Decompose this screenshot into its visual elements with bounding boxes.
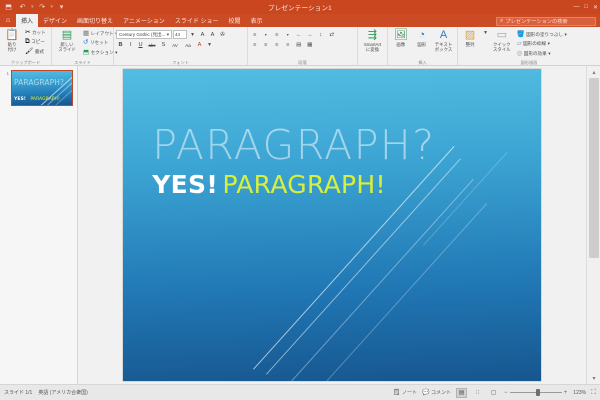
thumbnail-paragraph-text: PARAGRAPH! bbox=[30, 97, 59, 102]
title-bar: ⬒ ↶ ▾ ↷ ▾ ▾ プレゼンテーション1 — □ ✕ bbox=[0, 0, 600, 14]
comment-icon: 💬 bbox=[422, 389, 429, 396]
search-icon: ⌕ bbox=[500, 18, 503, 25]
scroll-down-icon[interactable]: ▾ bbox=[587, 372, 600, 384]
thumbnail-canvas: PARAGRAPH? YES! PARAGRAPH! bbox=[12, 71, 72, 105]
zoom-track[interactable] bbox=[510, 392, 562, 393]
ribbon-group-paragraph: ≡ ▾ ≡ ▾ ← → ↕ ⇄ ≡ ≡ ≡ ≡ ▤ ▦ 段落 bbox=[248, 27, 358, 65]
font-name-value: Century Gothic (見出... bbox=[119, 32, 165, 38]
brush-icon: 🖌 bbox=[25, 48, 33, 56]
search-placeholder: プレゼンテーションの検索 bbox=[505, 18, 567, 25]
notes-button[interactable]: 🗒 ノート bbox=[393, 389, 417, 396]
slide-subheading[interactable]: YES! PARAGRAPH! bbox=[152, 172, 435, 197]
fill-bucket-icon: 🪣 bbox=[517, 31, 525, 39]
clipboard-group-label: クリップボード bbox=[2, 60, 49, 65]
tab-insert[interactable]: 挿入 bbox=[16, 14, 38, 27]
smartart-group-label bbox=[360, 60, 385, 65]
align-text-button[interactable]: ▦ bbox=[305, 41, 315, 50]
tab-view[interactable]: 表示 bbox=[246, 14, 268, 27]
new-slide-label: 新しい スライド bbox=[58, 42, 76, 52]
normal-view-button[interactable]: ▤ bbox=[456, 388, 467, 398]
align-center-button[interactable]: ≡ bbox=[261, 41, 271, 50]
slide-sorter-view-button[interactable]: ∷ bbox=[472, 388, 483, 398]
thumbnail-list-item[interactable]: 1 PARAGRAPH? YES! PARAGRAPH! bbox=[4, 70, 73, 106]
align-left-button[interactable]: ≡ bbox=[250, 41, 260, 50]
copy-label: コピー bbox=[31, 39, 45, 45]
copy-icon: ⧉ bbox=[25, 38, 30, 46]
quick-styles-button[interactable]: ▭ クイック スタイル bbox=[491, 28, 513, 53]
format-label: 書式 bbox=[35, 49, 44, 55]
zoom-slider[interactable]: − + bbox=[504, 390, 567, 396]
slide-yes-text: YES! bbox=[152, 170, 218, 199]
shape-fill-button[interactable]: 🪣 図形の塗りつぶし ▾ bbox=[515, 30, 569, 39]
drawing-group-label: 図形描画 bbox=[460, 60, 598, 65]
slide-heading[interactable]: PARAGRAPH? bbox=[152, 125, 435, 166]
character-spacing-button[interactable]: AV bbox=[169, 41, 181, 50]
thumbnail-subheading: YES! PARAGRAPH! bbox=[14, 88, 64, 104]
new-slide-icon: ▤ bbox=[62, 29, 72, 42]
tab-animations[interactable]: アニメーション bbox=[118, 14, 170, 27]
smartart-icon: ⇶ bbox=[368, 29, 377, 42]
font-group-label: フォント bbox=[116, 60, 245, 65]
maximize-icon[interactable]: □ bbox=[584, 4, 588, 10]
decrease-indent-button[interactable]: ← bbox=[294, 30, 304, 39]
font-color-button[interactable]: A bbox=[195, 41, 204, 50]
numbering-button[interactable]: ≡ bbox=[272, 30, 282, 39]
vertical-scrollbar[interactable]: ▴ ▾ bbox=[586, 66, 600, 384]
ribbon-group-slides: ▤ 新しい スライド ▦ レイアウト ▾ ↺ リセット ⬒ セクシ bbox=[52, 27, 114, 65]
textbox-label: テキスト ボックス bbox=[435, 42, 452, 52]
shrink-font-button[interactable]: A bbox=[208, 30, 217, 39]
font-size-chevron-down-icon[interactable]: ▾ bbox=[188, 30, 197, 39]
zoom-value[interactable]: 123% bbox=[572, 390, 586, 396]
thumbnail-heading: PARAGRAPH? YES! PARAGRAPH! bbox=[14, 79, 64, 104]
slide-editor-pane[interactable]: PARAGRAPH? YES! PARAGRAPH! bbox=[78, 66, 586, 384]
layout-icon: ▦ bbox=[83, 30, 89, 38]
font-name-chevron-down-icon[interactable]: ▾ bbox=[167, 32, 169, 38]
clear-formatting-button[interactable]: ✇ bbox=[218, 30, 227, 39]
increase-indent-button[interactable]: → bbox=[305, 30, 315, 39]
insert-group-label: 挿入 bbox=[390, 60, 455, 65]
arrange-button[interactable]: ▨ 整列 bbox=[460, 28, 480, 48]
tab-review[interactable]: 校閲 bbox=[223, 14, 245, 27]
font-size-input[interactable]: 44 bbox=[173, 30, 187, 39]
window-controls: — □ ✕ bbox=[573, 0, 598, 14]
bold-button[interactable]: B bbox=[116, 41, 125, 50]
ribbon: 📋 貼り 付け ✂ カット ⧉ コピー 🖌 書式 bbox=[0, 27, 600, 66]
outline-chevron-down-icon[interactable]: ▾ bbox=[548, 41, 550, 47]
close-icon[interactable]: ✕ bbox=[593, 4, 598, 11]
italic-button[interactable]: I bbox=[126, 41, 135, 50]
arrange-icon: ▨ bbox=[465, 29, 475, 42]
insert-shape-button[interactable]: ◔ 図形 bbox=[412, 28, 432, 48]
insert-image-button[interactable]: 🖼 画像 bbox=[391, 28, 411, 48]
cut-button[interactable]: ✂ カット bbox=[23, 28, 48, 37]
format-painter-button[interactable]: 🖌 書式 bbox=[23, 47, 48, 56]
search-input[interactable]: ⌕ プレゼンテーションの検索 bbox=[496, 17, 596, 26]
scissors-icon: ✂ bbox=[25, 29, 30, 37]
comments-label: コメント bbox=[431, 389, 451, 396]
new-slide-button[interactable]: ▤ 新しい スライド bbox=[54, 28, 80, 53]
ribbon-tab-bar: ⌂ 挿入 デザイン 画面切り替え アニメーション スライド ショー 校閲 表示 … bbox=[0, 14, 600, 27]
outline-label: 図形の枠線 bbox=[523, 41, 546, 47]
tab-transitions[interactable]: 画面切り替え bbox=[72, 14, 118, 27]
paste-button[interactable]: 📋 貼り 付け bbox=[2, 28, 22, 53]
grow-font-button[interactable]: A bbox=[198, 30, 207, 39]
quick-style-icon: ▭ bbox=[497, 29, 507, 42]
reset-label: リセット bbox=[90, 40, 108, 46]
ribbon-group-font: Century Gothic (見出... ▾ 44 ▾ A A ✇ B I U… bbox=[114, 27, 248, 65]
ribbon-group-insert: 🖼 画像 ◔ 図形 A テキスト ボックス 挿入 bbox=[388, 27, 458, 65]
layout-label: レイアウト bbox=[91, 31, 114, 37]
workspace: 1 PARAGRAPH? YES! PARAGRAPH! bbox=[0, 66, 600, 384]
underline-button[interactable]: U bbox=[136, 41, 145, 50]
line-spacing-button[interactable]: ↕ bbox=[316, 30, 326, 39]
bullets-chevron-down-icon[interactable]: ▾ bbox=[261, 30, 271, 39]
shape-outline-button[interactable]: ▱ 図形の枠線 ▾ bbox=[515, 40, 569, 49]
minimize-icon[interactable]: — bbox=[573, 4, 579, 10]
convert-to-smartart-button[interactable]: ⇶ SmartArt に変換 bbox=[362, 28, 383, 53]
slide-text-block[interactable]: PARAGRAPH? YES! PARAGRAPH! bbox=[152, 125, 435, 197]
shape-effects-button[interactable]: ◎ 図形の効果 ▾ bbox=[515, 49, 569, 58]
paste-icon: 📋 bbox=[5, 29, 19, 42]
notes-icon: 🗒 bbox=[393, 389, 401, 396]
change-case-button[interactable]: Aa bbox=[182, 41, 194, 50]
zoom-out-button[interactable]: − bbox=[504, 390, 508, 396]
status-bar: スライド 1/1 英語 (アメリカ合衆国) 🗒 ノート 💬 コメント ▤ ∷ ▢… bbox=[0, 384, 600, 400]
insert-textbox-button[interactable]: A テキスト ボックス bbox=[433, 28, 454, 53]
text-direction-button[interactable]: ⇄ bbox=[327, 30, 337, 39]
slides-group-label: スライド bbox=[54, 60, 111, 65]
quickstyle-label: クイック スタイル bbox=[493, 42, 511, 52]
smartart-label: SmartArt に変換 bbox=[364, 42, 381, 52]
arrange-label: 整列 bbox=[466, 42, 475, 47]
reset-icon: ↺ bbox=[83, 39, 88, 47]
font-name-input[interactable]: Century Gothic (見出... ▾ bbox=[116, 30, 172, 39]
justify-button[interactable]: ≡ bbox=[283, 41, 293, 50]
slide-counter[interactable]: スライド 1/1 bbox=[4, 389, 32, 396]
document-title: プレゼンテーション1 bbox=[0, 2, 600, 12]
shape-icon: ◔ bbox=[418, 29, 425, 42]
align-right-button[interactable]: ≡ bbox=[272, 41, 282, 50]
notes-label: ノート bbox=[402, 389, 417, 396]
font-color-chevron-down-icon[interactable]: ▾ bbox=[205, 41, 214, 50]
ribbon-group-clipboard: 📋 貼り 付け ✂ カット ⧉ コピー 🖌 書式 bbox=[0, 27, 52, 65]
ribbon-group-drawing: ▨ 整列 ▾ ▭ クイック スタイル 🪣 図形の塗りつぶし ▾ ▱ bbox=[458, 27, 600, 65]
fill-chevron-down-icon[interactable]: ▾ bbox=[564, 32, 566, 38]
section-icon: ⬒ bbox=[83, 49, 89, 57]
slide-canvas[interactable]: PARAGRAPH? YES! PARAGRAPH! bbox=[123, 69, 541, 381]
scrollbar-thumb[interactable] bbox=[589, 78, 599, 258]
effects-icon: ◎ bbox=[517, 50, 523, 58]
slide-thumbnail-1[interactable]: PARAGRAPH? YES! PARAGRAPH! bbox=[11, 70, 73, 106]
outline-icon: ▱ bbox=[517, 40, 522, 48]
reading-view-button[interactable]: ▢ bbox=[488, 388, 499, 398]
cut-label: カット bbox=[32, 30, 46, 36]
font-size-value: 44 bbox=[175, 32, 180, 37]
status-right: 🗒 ノート 💬 コメント ▤ ∷ ▢ − + 123% ⛶ bbox=[393, 388, 596, 398]
thumbnail-heading-text: PARAGRAPH? bbox=[14, 79, 64, 87]
paragraph-group-label: 段落 bbox=[250, 60, 355, 65]
slide-paragraph-text: PARAGRAPH! bbox=[223, 170, 386, 199]
zoom-knob[interactable] bbox=[536, 389, 540, 396]
decorative-streaks bbox=[123, 69, 541, 381]
slide-thumbnail-pane[interactable]: 1 PARAGRAPH? YES! PARAGRAPH! bbox=[0, 66, 78, 384]
tab-design[interactable]: デザイン bbox=[38, 14, 72, 27]
numbering-chevron-down-icon[interactable]: ▾ bbox=[283, 30, 293, 39]
tab-slideshow[interactable]: スライド ショー bbox=[170, 14, 224, 27]
image-label: 画像 bbox=[396, 42, 405, 47]
strikethrough-button[interactable]: abc bbox=[146, 41, 158, 50]
fit-to-window-icon[interactable]: ⛶ bbox=[591, 389, 596, 397]
thumbnail-yes-text: YES! bbox=[14, 97, 26, 102]
tab-file[interactable]: ⌂ bbox=[0, 14, 16, 27]
thumbnail-number: 1 bbox=[4, 70, 9, 76]
columns-button[interactable]: ▤ bbox=[294, 41, 304, 50]
status-left: スライド 1/1 英語 (アメリカ合衆国) bbox=[4, 389, 88, 396]
section-label: セクション bbox=[91, 50, 114, 56]
zoom-in-button[interactable]: + bbox=[564, 390, 568, 396]
language-indicator[interactable]: 英語 (アメリカ合衆国) bbox=[38, 389, 87, 396]
powerpoint-window: ⬒ ↶ ▾ ↷ ▾ ▾ プレゼンテーション1 — □ ✕ ⌂ 挿入 デザイン 画… bbox=[0, 0, 600, 400]
effects-chevron-down-icon[interactable]: ▾ bbox=[548, 51, 550, 57]
shape-label: 図形 bbox=[417, 42, 426, 47]
paste-label: 貼り 付け bbox=[8, 42, 17, 52]
textbox-icon: A bbox=[440, 29, 447, 42]
arrange-chevron-down-icon[interactable]: ▾ bbox=[481, 28, 490, 37]
copy-button[interactable]: ⧉ コピー bbox=[23, 38, 48, 47]
text-shadow-button[interactable]: S bbox=[159, 41, 168, 50]
comments-button[interactable]: 💬 コメント bbox=[422, 389, 451, 396]
fill-label: 図形の塗りつぶし bbox=[526, 32, 563, 38]
bullets-button[interactable]: ≡ bbox=[250, 30, 260, 39]
scroll-up-icon[interactable]: ▴ bbox=[587, 66, 600, 78]
effects-label: 図形の効果 bbox=[524, 51, 547, 57]
image-icon: 🖼 bbox=[394, 29, 408, 42]
ribbon-group-smartart: ⇶ SmartArt に変換 bbox=[358, 27, 388, 65]
